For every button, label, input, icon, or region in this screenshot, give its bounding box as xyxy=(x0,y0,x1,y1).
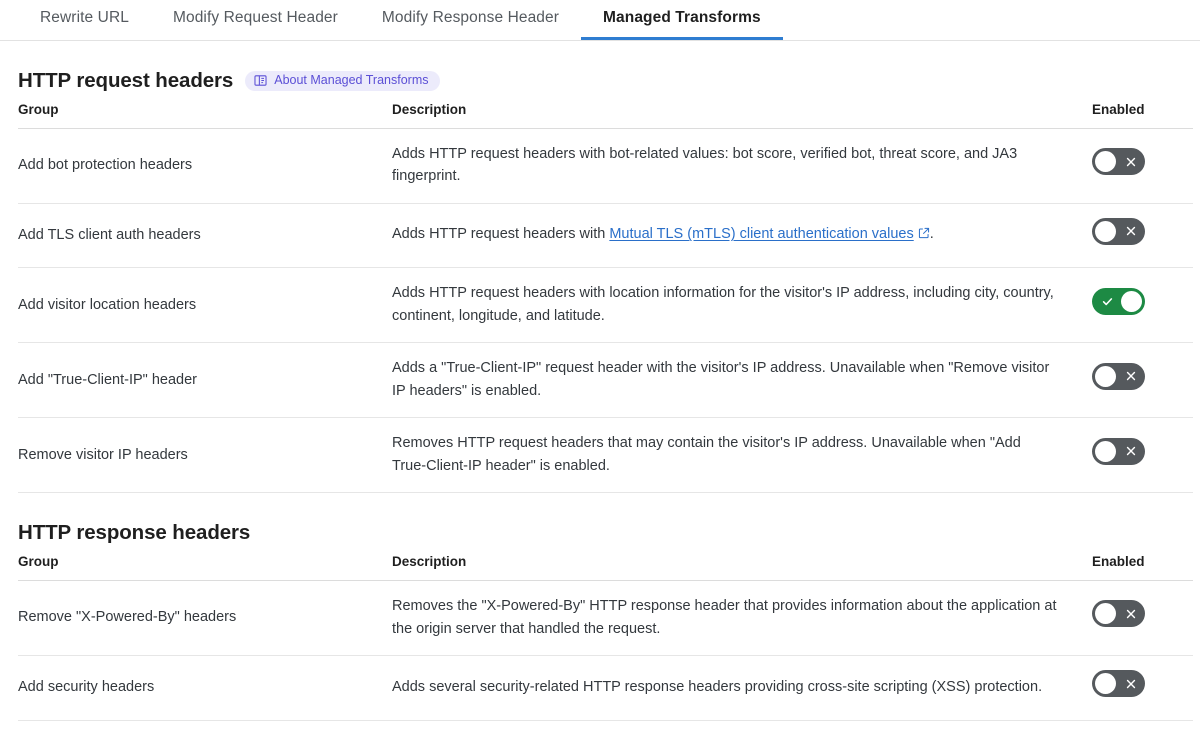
tab-bar: Rewrite URLModify Request HeaderModify R… xyxy=(0,0,1200,41)
toggle-state-icon xyxy=(1125,218,1137,245)
description-text: Removes the "X-Powered-By" HTTP response… xyxy=(392,598,1057,636)
toggle-knob xyxy=(1095,441,1116,462)
section-2: HTTP response headersGroupDescriptionEna… xyxy=(0,493,1200,720)
row-enabled-cell xyxy=(1092,581,1193,656)
enabled-toggle[interactable] xyxy=(1092,288,1145,315)
about-managed-transforms-badge[interactable]: About Managed Transforms xyxy=(245,71,440,91)
row-description: Adds HTTP request headers with bot-relat… xyxy=(392,129,1092,204)
cross-icon xyxy=(1125,608,1137,620)
row-enabled-cell xyxy=(1092,418,1193,493)
table-row: Remove "X-Powered-By" headersRemoves the… xyxy=(18,581,1193,656)
managed-transforms-table: GroupDescriptionEnabledAdd bot protectio… xyxy=(18,102,1193,493)
external-link-icon xyxy=(918,224,930,246)
row-enabled-cell xyxy=(1092,129,1193,204)
row-enabled-cell xyxy=(1092,203,1193,267)
row-group-name: Add "True-Client-IP" header xyxy=(18,343,392,418)
description-text-before: Adds HTTP request headers with xyxy=(392,226,609,242)
tab-modify-response-header[interactable]: Modify Response Header xyxy=(360,0,581,39)
check-icon xyxy=(1101,295,1114,308)
toggle-knob xyxy=(1095,673,1116,694)
managed-transforms-page: Rewrite URLModify Request HeaderModify R… xyxy=(0,0,1200,742)
sections-container: HTTP request headersAbout Managed Transf… xyxy=(0,41,1200,721)
description-text: Adds HTTP request headers with location … xyxy=(392,285,1054,323)
row-description: Adds a "True-Client-IP" request header w… xyxy=(392,343,1092,418)
row-description: Removes the "X-Powered-By" HTTP response… xyxy=(392,581,1092,656)
description-text: Removes HTTP request headers that may co… xyxy=(392,435,1021,473)
table-row: Remove visitor IP headersRemoves HTTP re… xyxy=(18,418,1193,493)
toggle-knob xyxy=(1095,603,1116,624)
toggle-state-icon xyxy=(1101,288,1114,315)
row-group-name: Add visitor location headers xyxy=(18,268,392,343)
table-row: Add "True-Client-IP" headerAdds a "True-… xyxy=(18,343,1193,418)
table-row: Add security headersAdds several securit… xyxy=(18,656,1193,720)
book-icon xyxy=(254,74,267,87)
description-text: Adds a "True-Client-IP" request header w… xyxy=(392,360,1049,398)
enabled-toggle[interactable] xyxy=(1092,218,1145,245)
cross-icon xyxy=(1125,445,1137,457)
cross-icon xyxy=(1125,225,1137,237)
cross-icon xyxy=(1125,156,1137,168)
row-group-name: Add bot protection headers xyxy=(18,129,392,204)
cross-icon xyxy=(1125,370,1137,382)
table-header-row: GroupDescriptionEnabled xyxy=(18,554,1193,581)
enabled-toggle[interactable] xyxy=(1092,148,1145,175)
section-header: HTTP request headersAbout Managed Transf… xyxy=(18,41,1182,102)
description-text-after: . xyxy=(930,226,934,242)
managed-transforms-table: GroupDescriptionEnabledRemove "X-Powered… xyxy=(18,554,1193,720)
column-header-description: Description xyxy=(392,102,1092,129)
column-header-enabled: Enabled xyxy=(1092,102,1193,129)
enabled-toggle[interactable] xyxy=(1092,438,1145,465)
toggle-knob xyxy=(1121,291,1142,312)
row-description: Adds HTTP request headers with location … xyxy=(392,268,1092,343)
description-text: Adds HTTP request headers with bot-relat… xyxy=(392,146,1017,184)
column-header-enabled: Enabled xyxy=(1092,554,1193,581)
row-description: Removes HTTP request headers that may co… xyxy=(392,418,1092,493)
toggle-state-icon xyxy=(1125,438,1137,465)
toggle-knob xyxy=(1095,366,1116,387)
row-group-name: Add TLS client auth headers xyxy=(18,203,392,267)
row-group-name: Remove visitor IP headers xyxy=(18,418,392,493)
enabled-toggle[interactable] xyxy=(1092,363,1145,390)
toggle-knob xyxy=(1095,221,1116,242)
table-row: Add TLS client auth headersAdds HTTP req… xyxy=(18,203,1193,267)
toggle-state-icon xyxy=(1125,670,1137,697)
section-1: HTTP request headersAbout Managed Transf… xyxy=(0,41,1200,493)
badge-label: About Managed Transforms xyxy=(274,74,428,87)
row-enabled-cell xyxy=(1092,656,1193,720)
section-title: HTTP request headers xyxy=(18,69,233,93)
tab-managed-transforms[interactable]: Managed Transforms xyxy=(581,0,783,39)
toggle-state-icon xyxy=(1125,148,1137,175)
mtls-docs-link[interactable]: Mutual TLS (mTLS) client authentication … xyxy=(609,226,913,242)
toggle-knob xyxy=(1095,151,1116,172)
description-text: Adds several security-related HTTP respo… xyxy=(392,679,1042,695)
toggle-state-icon xyxy=(1125,363,1137,390)
enabled-toggle[interactable] xyxy=(1092,600,1145,627)
enabled-toggle[interactable] xyxy=(1092,670,1145,697)
row-group-name: Remove "X-Powered-By" headers xyxy=(18,581,392,656)
column-header-description: Description xyxy=(392,554,1092,581)
row-description: Adds HTTP request headers with Mutual TL… xyxy=(392,203,1092,267)
row-enabled-cell xyxy=(1092,343,1193,418)
column-header-group: Group xyxy=(18,554,392,581)
table-row: Add bot protection headersAdds HTTP requ… xyxy=(18,129,1193,204)
cross-icon xyxy=(1125,678,1137,690)
table-header-row: GroupDescriptionEnabled xyxy=(18,102,1193,129)
toggle-state-icon xyxy=(1125,600,1137,627)
row-enabled-cell xyxy=(1092,268,1193,343)
table-row: Add visitor location headersAdds HTTP re… xyxy=(18,268,1193,343)
section-header: HTTP response headers xyxy=(18,493,1182,554)
tab-modify-request-header[interactable]: Modify Request Header xyxy=(151,0,360,39)
column-header-group: Group xyxy=(18,102,392,129)
section-title: HTTP response headers xyxy=(18,521,250,545)
row-group-name: Add security headers xyxy=(18,656,392,720)
tab-rewrite-url[interactable]: Rewrite URL xyxy=(18,0,151,39)
row-description: Adds several security-related HTTP respo… xyxy=(392,656,1092,720)
